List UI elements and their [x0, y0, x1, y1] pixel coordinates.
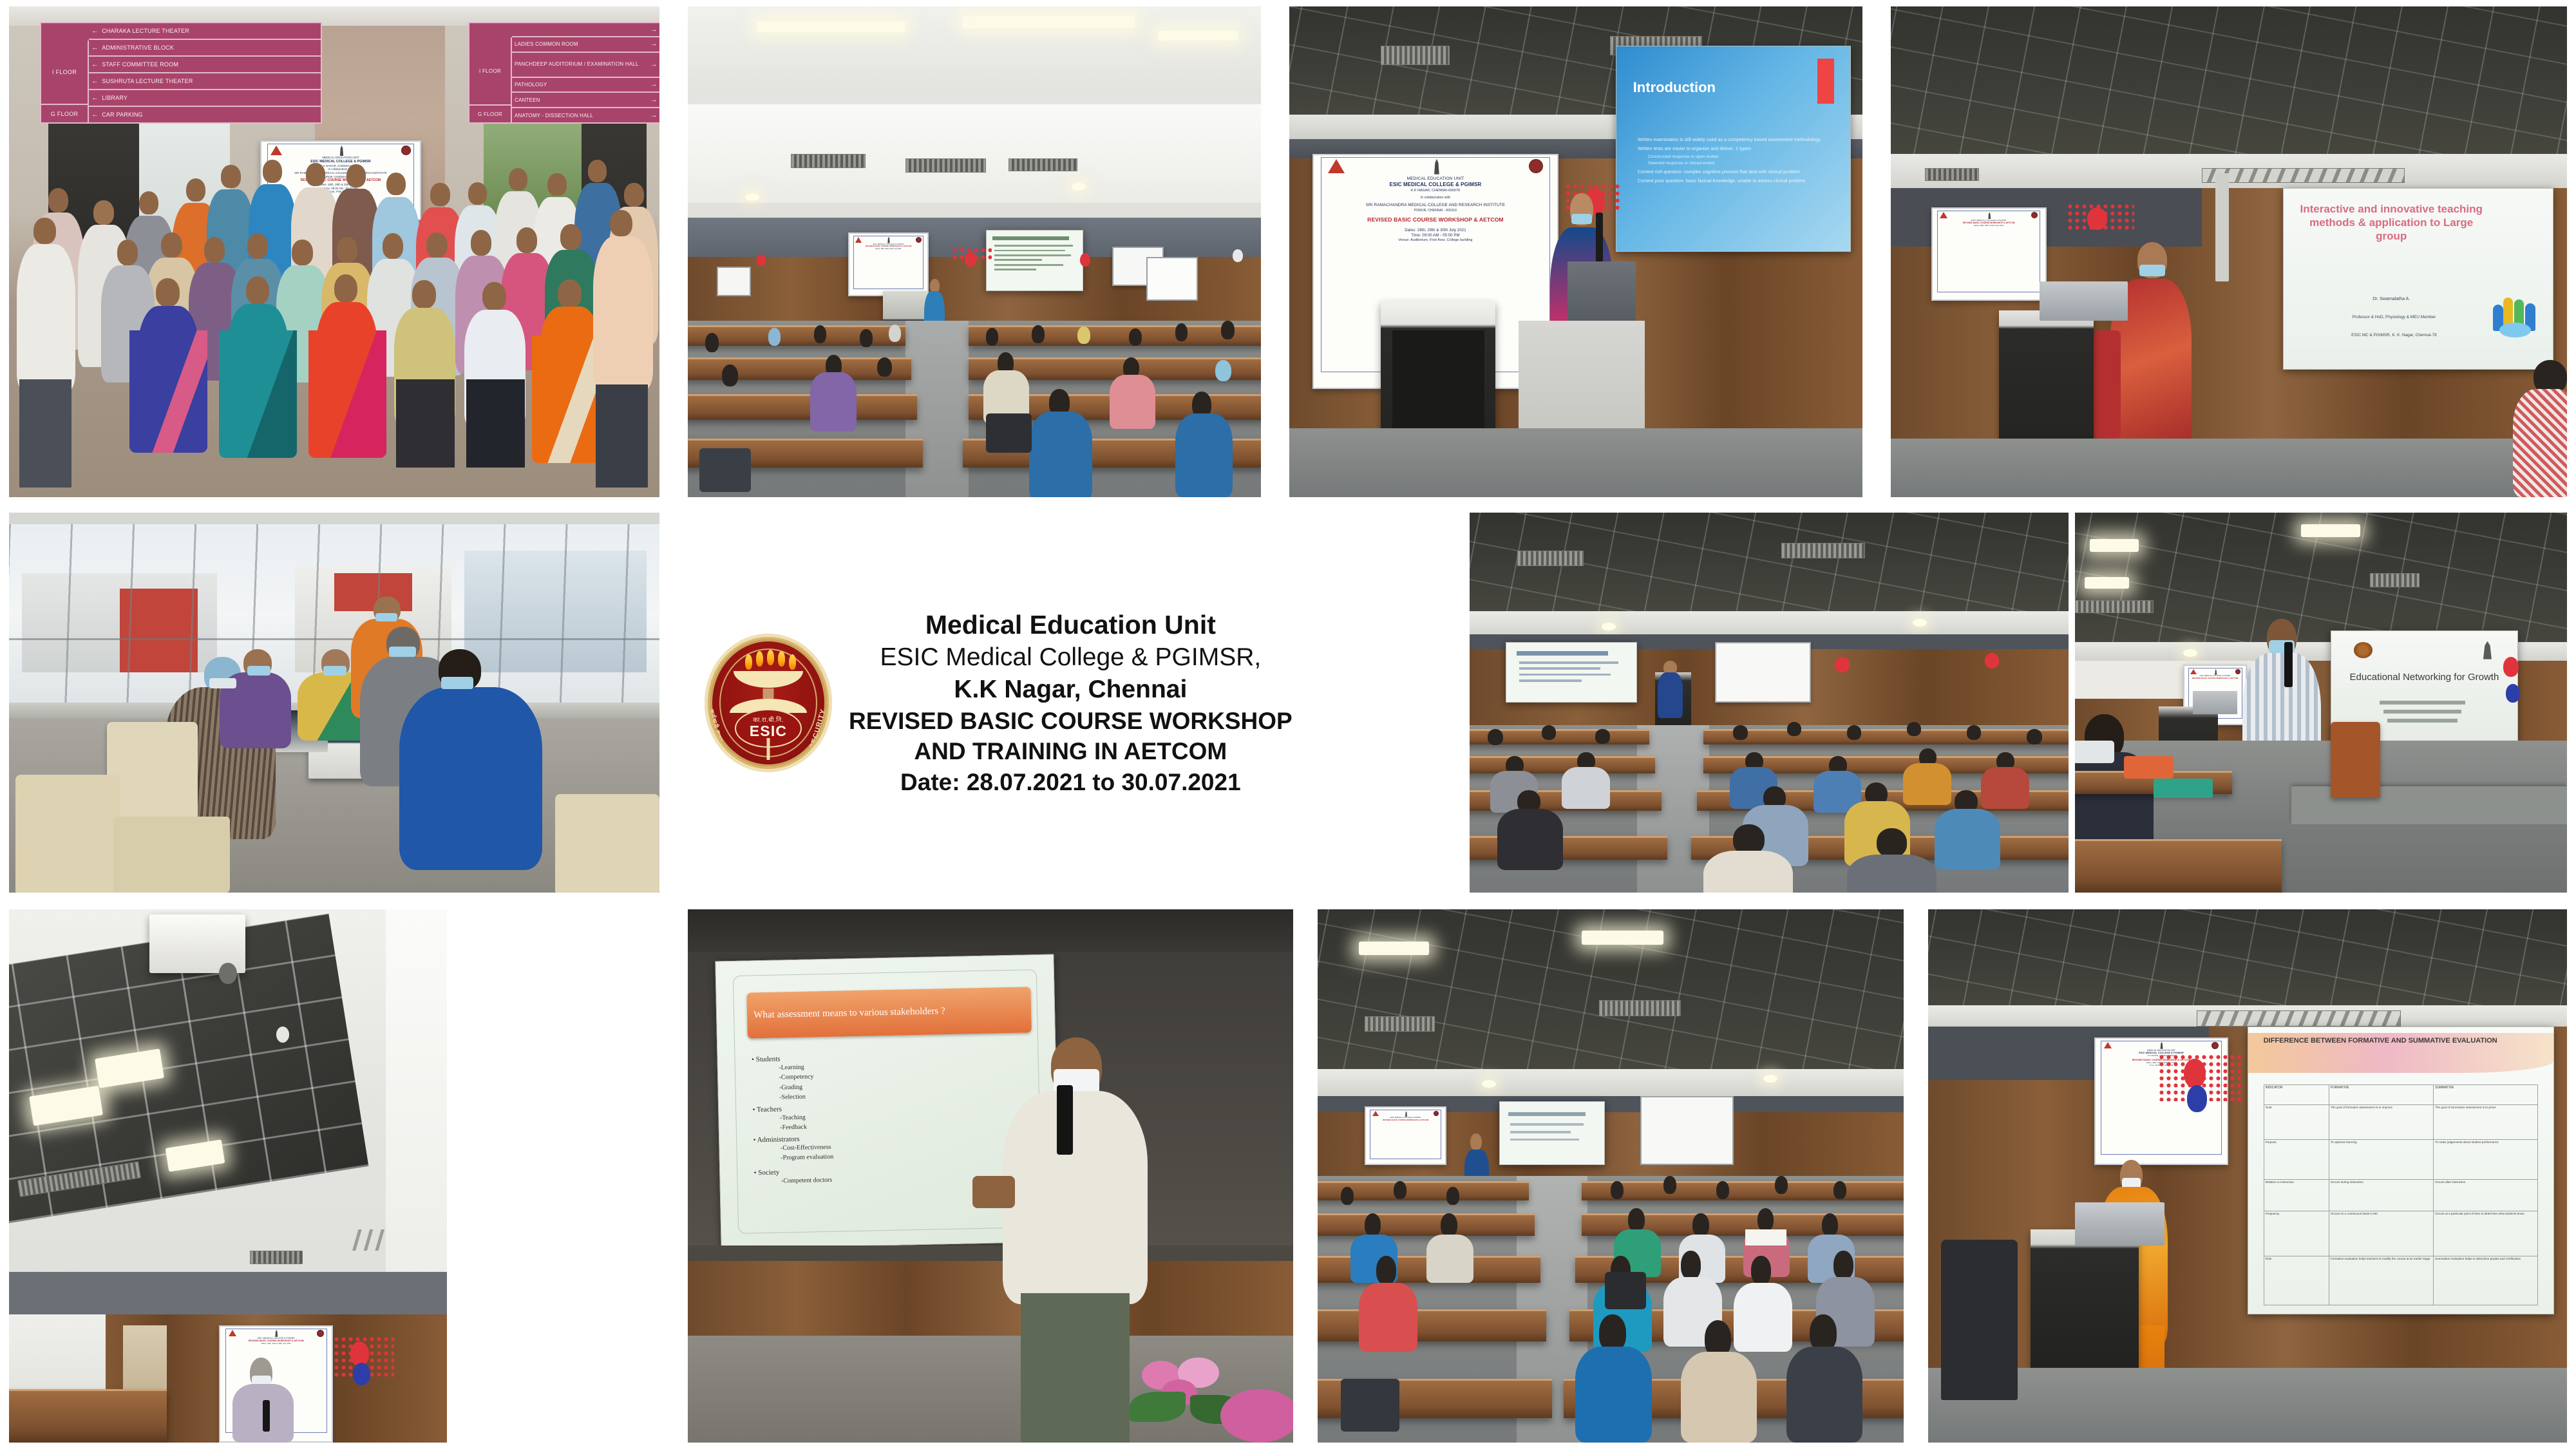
lamp-stem-icon — [763, 688, 774, 699]
table-cell: To optimise learning — [2329, 1140, 2434, 1179]
slide-title: Interactive and innovative teaching meth… — [2300, 203, 2483, 243]
national-emblem-icon — [2159, 1042, 2164, 1049]
banner-line: Dates: 28th, 29th & 30th July 2021 — [228, 1343, 325, 1345]
table-cell: Occurs after instruction — [2434, 1180, 2537, 1211]
table-cell: Occurs on a continuous basis in MC — [2329, 1211, 2434, 1256]
face-mask-icon — [323, 666, 346, 675]
slide-title: DIFFERENCE BETWEEN FORMATIVE AND SUMMATI… — [2264, 1036, 2539, 1046]
table-cell: Relation to instruction — [2264, 1180, 2329, 1211]
national-emblem-icon — [274, 1330, 279, 1337]
projector-lens-icon — [219, 963, 236, 984]
laptop — [2040, 281, 2128, 321]
table-row: Role Formative evaluation helps teachers… — [2264, 1256, 2538, 1305]
lamp-flame-icon — [767, 650, 774, 665]
esic-triangle-logo-icon — [2190, 669, 2197, 674]
institution-seal-icon — [2031, 212, 2038, 218]
laptop — [2193, 691, 2237, 714]
banner-line: Time: 09:00 AM - 05:00 PM — [1326, 233, 1545, 238]
institution-seal-icon — [2235, 669, 2240, 674]
table-cell: Formative evaluation helps teachers to m… — [2329, 1256, 2434, 1305]
esic-triangle-logo-icon — [2104, 1042, 2112, 1048]
table-cell: Purpose — [2264, 1140, 2329, 1179]
wall-fixture — [2215, 173, 2229, 281]
national-emblem-icon — [2214, 669, 2218, 675]
slide-presenter: Dr. Swarnalatha A. — [2300, 297, 2483, 301]
photo-small-group-activity — [9, 513, 659, 893]
face-mask-icon — [2075, 741, 2114, 763]
table-header-cell: FORMATIVE — [2329, 1085, 2434, 1104]
audience — [1318, 909, 1904, 1443]
banner-line: REVISED BASIC COURSE WORKSHOP & AETCOM — [2190, 677, 2240, 680]
table-cell: Summative evaluation helps to determine … — [2434, 1256, 2537, 1305]
face-mask-icon — [375, 613, 397, 622]
slide-bullet: Written tests are easier to organize and… — [1638, 146, 1836, 153]
flower-arrangement — [1220, 1389, 1293, 1443]
workshop-backdrop-banner: ESIC MEDICAL COLLEGE & PGIMSR REVISED BA… — [1931, 207, 2047, 301]
backpack — [1605, 1272, 1646, 1309]
photo-group-delegates: . I FLOOR G FLOOR ← CHARAKA LECTURE THEA… — [9, 6, 659, 497]
paper — [1745, 1229, 1786, 1245]
slide-bullet: Constructed response or open ended — [1648, 154, 1836, 160]
photo-speaker-podium-introduction: MEDICAL EDUCATION UNIT ESIC MEDICAL COLL… — [1289, 6, 1862, 497]
national-emblem-icon — [1987, 212, 1992, 219]
banner-line: K.K NAGAR, CHENNAI-600078 — [1326, 189, 1545, 193]
office-chair — [1941, 1240, 2018, 1399]
photo-speaker-assessment-stakeholders: What assessment means to various stakeho… — [688, 909, 1293, 1443]
face-mask-icon — [209, 678, 236, 689]
face-mask-icon — [441, 677, 474, 689]
projection-screen-formative-summative: DIFFERENCE BETWEEN FORMATIVE AND SUMMATI… — [2248, 1027, 2554, 1314]
banner-line: Dates: 28th, 29th & 30th July 2021 — [1326, 228, 1545, 233]
slide-bullet: Written examination is still widely used… — [1638, 137, 1836, 144]
plastic-chair — [555, 794, 659, 893]
table-cell: Occurs during instruction — [2329, 1180, 2434, 1211]
table-row: Relation to instruction Occurs during in… — [2264, 1180, 2538, 1211]
microphone-icon — [2284, 642, 2293, 688]
table-cell: Occurs at a particular point of time to … — [2434, 1211, 2537, 1256]
esic-word: ESIC — [750, 724, 787, 739]
delegate-crowd-front-seated — [9, 6, 659, 497]
audience — [1470, 513, 2069, 893]
national-emblem-icon — [1432, 159, 1442, 175]
table-row: Purpose To optimise learning To make jud… — [2264, 1140, 2538, 1180]
table-cell: Role — [2264, 1256, 2329, 1305]
photo-collage-poster: . I FLOOR G FLOOR ← CHARAKA LECTURE THEA… — [0, 0, 2576, 1449]
photo-speaker-educational-networking: ESIC MEDICAL COLLEGE & PGIMSR REVISED BA… — [2075, 513, 2567, 893]
speaker-hand — [972, 1176, 1015, 1208]
title-line-5: AND TRAINING IN AETCOM — [914, 736, 1227, 766]
institution-seal-icon — [317, 1330, 324, 1337]
speaker-legs — [1021, 1293, 1130, 1443]
speaker-body — [1003, 1091, 1148, 1304]
microphone-icon — [263, 1400, 270, 1432]
comparison-table: INDICATOR FORMATIVE SUMMATIVE Goal The g… — [2264, 1084, 2539, 1305]
table-cell: To make judgements about student perform… — [2434, 1140, 2537, 1179]
title-text-block: Medical Education Unit ESIC Medical Coll… — [849, 608, 1293, 797]
banner-line: MEDICAL EDUCATION UNIT — [1326, 176, 1545, 182]
face-mask-icon — [389, 647, 416, 658]
esic-triangle-logo-icon — [1940, 212, 1947, 218]
table-header-cell: SUMMATIVE — [2434, 1085, 2537, 1104]
table-cell: Goal — [2264, 1105, 2329, 1139]
slide-title: Introduction — [1633, 79, 1716, 96]
projection-screen-introduction: Introduction Written examination is stil… — [1616, 46, 1851, 252]
lamp-flame-icon — [789, 654, 796, 670]
table-cell: Frequency — [2264, 1211, 2329, 1256]
face-mask-icon — [2139, 265, 2165, 276]
lamp-flame-icon — [745, 654, 752, 670]
title-line-3: K.K Nagar, Chennai — [954, 674, 1187, 706]
title-card: का.रा.बी.नि. ESIC SOCIAL SECURITY कर्मचा… — [688, 513, 1467, 893]
banner-line: Dates: 28th, 29th & 30th July 2021 — [1940, 225, 2038, 227]
audience — [688, 6, 1261, 497]
laptop — [1567, 261, 1636, 325]
lamp-flame-icon — [756, 651, 763, 667]
photo-auditorium-participants: ESIC MEDICAL COLLEGE & PGIMSR REVISED BA… — [1318, 909, 1904, 1443]
esic-triangle-logo-icon — [229, 1330, 236, 1336]
photo-speaker-interactive-teaching: ESIC MEDICAL COLLEGE & PGIMSR REVISED BA… — [1891, 6, 2567, 497]
table-header-cell: INDICATOR — [2264, 1085, 2329, 1104]
projection-screen-interactive-teaching: Interactive and innovative teaching meth… — [2283, 188, 2553, 370]
table-cell: The goal of summative assessment is to p… — [2434, 1105, 2537, 1139]
plastic-chair — [113, 817, 231, 893]
table-row: Goal The goal of formative assessment is… — [2264, 1105, 2538, 1140]
title-line-4: REVISED BASIC COURSE WORKSHOP — [849, 706, 1293, 736]
banner-line: In collaboration with — [1326, 196, 1545, 200]
photo-hall-ceiling-projector: ESIC MEDICAL COLLEGE & PGIMSR REVISED BA… — [9, 909, 447, 1443]
title-line-2: ESIC Medical College & PGIMSR, — [880, 641, 1262, 674]
esic-triangle-logo-icon — [1328, 159, 1345, 173]
banner-line: ESIC MEDICAL COLLEGE & PGIMSR — [1326, 182, 1545, 189]
title-line-1: Medical Education Unit — [925, 608, 1216, 641]
banner-line: PORUR, CHENNAI - 600116 — [1326, 209, 1545, 213]
backpack — [1341, 1379, 1399, 1432]
table-cell: The goal of formative assessment is to i… — [2329, 1105, 2434, 1139]
seal-left-icon — [2354, 642, 2372, 658]
slide-title-banner: What assessment means to various stakeho… — [747, 987, 1032, 1038]
smoke-detector-icon — [276, 1027, 289, 1043]
banner-line: Venue: Auditorium, First floor, College … — [1326, 238, 1545, 243]
title-line-6: Date: 28.07.2021 to 30.07.2021 — [900, 767, 1241, 797]
banner-line: SRI RAMACHANDRA MEDICAL COLLEGE AND RESE… — [1326, 203, 1545, 209]
photo-lecture-hall-session: ESIC MEDICAL COLLEGE & PGIMSR REVISED BA… — [688, 6, 1261, 497]
wooden-chair — [2331, 722, 2380, 798]
photo-lecture-hall-audience — [1470, 513, 2069, 893]
slide-title: What assessment means to various stakeho… — [753, 1006, 945, 1021]
photo-speaker-formative-summative: MEDICAL EDUCATION UNIT ESIC MEDICAL COLL… — [1928, 909, 2567, 1443]
slide-designation: Professor & HoD, Physiology & MEU Member — [2295, 315, 2494, 319]
slide-bullet: Context rich question- complex cognitive… — [1638, 169, 1836, 176]
table-row: Frequency Occurs on a continuous basis i… — [2264, 1211, 2538, 1256]
face-mask-icon — [247, 666, 270, 675]
group-people-clipart-icon — [2491, 283, 2539, 341]
institution-seal-icon — [2211, 1042, 2219, 1049]
plastic-chair — [15, 775, 120, 893]
laptop — [2075, 1202, 2164, 1245]
esic-logo: का.रा.बी.नि. ESIC SOCIAL SECURITY कर्मचा… — [705, 634, 832, 772]
face-mask-icon — [1571, 214, 1592, 225]
institution-seal-icon — [1529, 159, 1543, 173]
lamp-flame-icon — [778, 651, 785, 667]
slide-bullet: Selected response or closed ended — [1648, 160, 1836, 167]
banner-line: REVISED BASIC COURSE WORKSHOP & AETCOM — [1326, 216, 1545, 224]
participant-body-blue — [399, 687, 542, 869]
slide-bullet: Context poor question- basic factual kno… — [1638, 178, 1836, 185]
slide-title: Educational Networking for Growth — [2343, 672, 2506, 684]
microphone-icon — [1057, 1085, 1072, 1155]
slide-institution: ESIC MC & PGIMSR, K. K. Nagar, Chennai-7… — [2295, 333, 2494, 337]
